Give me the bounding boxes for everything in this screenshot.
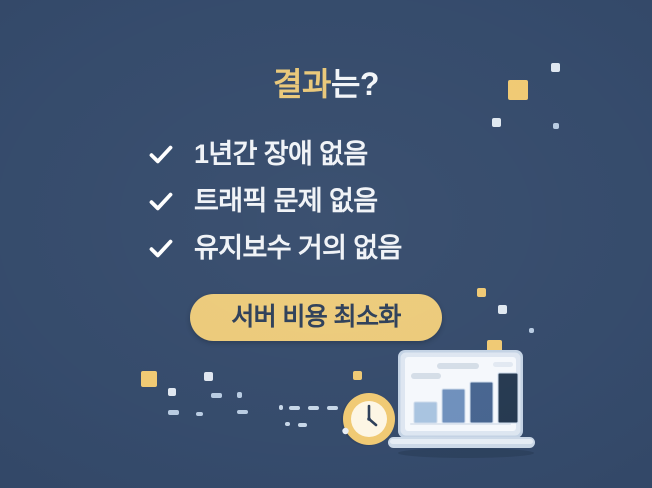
list-item: 1년간 장애 없음 — [148, 131, 548, 178]
dash-segment — [289, 406, 300, 410]
chart-bar — [470, 382, 493, 423]
clock-icon — [340, 391, 398, 449]
dash-segment — [308, 406, 319, 410]
deco-square-blue — [553, 123, 559, 129]
check-icon — [148, 142, 174, 168]
chart-bar — [498, 373, 518, 423]
chart-bar — [414, 402, 437, 423]
check-icon — [148, 189, 174, 215]
deco-square-gold — [141, 371, 157, 387]
list-item-label: 1년간 장애 없음 — [194, 141, 368, 168]
laptop-with-bar-chart — [380, 349, 540, 459]
screen-placeholder-line — [411, 373, 441, 379]
deco-square-gold — [353, 371, 362, 380]
screen-placeholder-line — [493, 362, 513, 367]
highlight-badge: 서버 비용 최소화 — [190, 294, 442, 341]
title-highlight: 결과 — [273, 66, 331, 102]
highlight-badge-label: 서버 비용 최소화 — [231, 305, 401, 330]
deco-square-pale — [492, 118, 501, 127]
deco-bar-blue — [196, 412, 203, 416]
deco-square-pale — [168, 388, 176, 396]
promo-slide: 결과는? 1년간 장애 없음 트래픽 문제 없음 유지보수 거의 없음 서버 비… — [0, 0, 652, 488]
clock-accent-dot — [342, 428, 348, 434]
clock-center-pin — [367, 417, 371, 421]
deco-bar-blue — [237, 392, 242, 398]
deco-square-gold — [477, 288, 486, 297]
deco-bar-blue — [237, 410, 248, 414]
screen-placeholder-line — [437, 363, 479, 369]
laptop-shadow — [398, 448, 534, 458]
dash-segment — [285, 422, 290, 426]
title-rest: 는? — [331, 66, 379, 102]
deco-square-pale — [498, 305, 507, 314]
deco-bar-blue — [168, 410, 179, 415]
check-icon — [148, 236, 174, 262]
dash-segment — [327, 406, 338, 410]
list-item: 유지보수 거의 없음 — [148, 225, 548, 272]
dash-segment — [298, 423, 307, 427]
deco-square-blue — [529, 328, 534, 333]
deco-bar-blue — [211, 393, 222, 398]
list-item-label: 트래픽 문제 없음 — [194, 188, 377, 215]
chart-bar — [442, 389, 465, 423]
page-title: 결과는? — [0, 68, 652, 100]
deco-square-pale — [204, 372, 213, 381]
benefit-list: 1년간 장애 없음 트래픽 문제 없음 유지보수 거의 없음 — [148, 131, 548, 272]
laptop-base-highlight — [390, 439, 533, 444]
list-item-label: 유지보수 거의 없음 — [194, 235, 402, 262]
list-item: 트래픽 문제 없음 — [148, 178, 548, 225]
dash-segment — [279, 405, 283, 410]
